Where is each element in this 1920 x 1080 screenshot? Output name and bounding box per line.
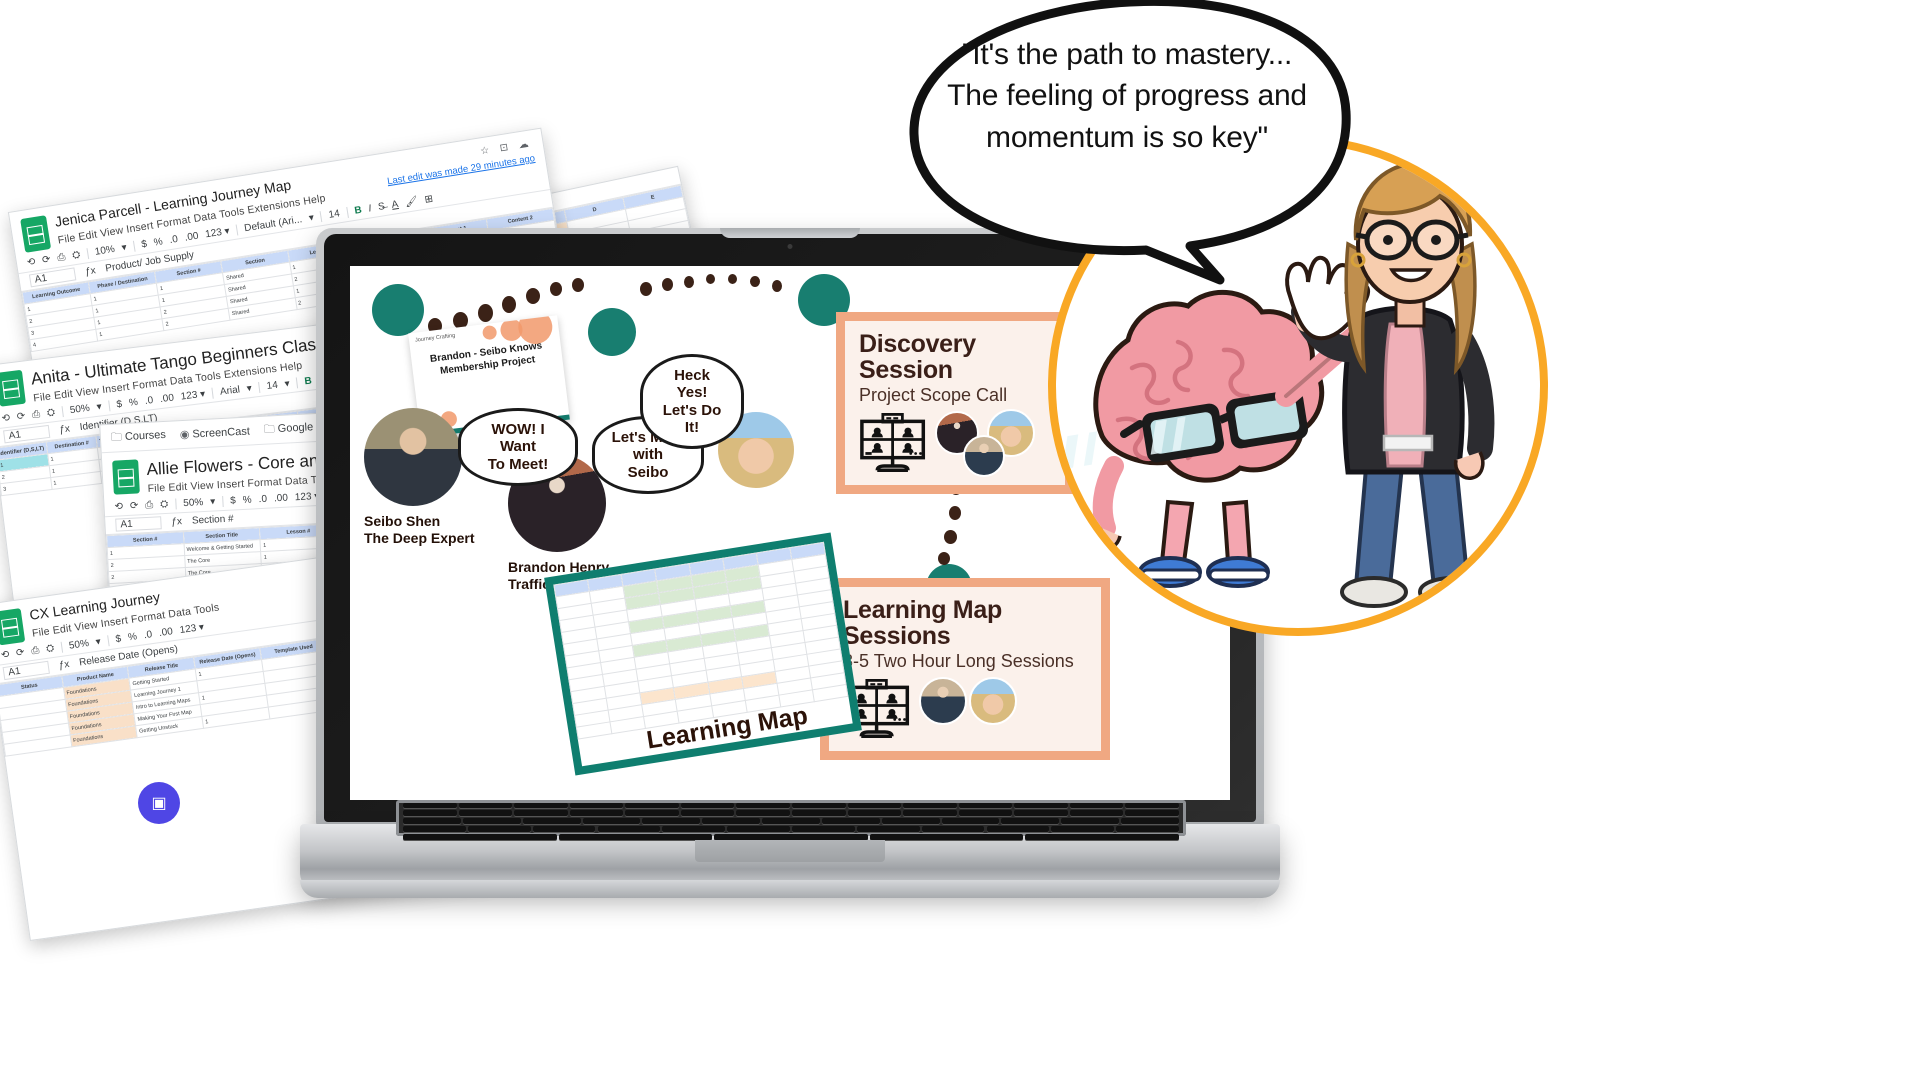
google-sheets-icon (112, 459, 140, 494)
font-size[interactable]: 14 (328, 208, 341, 221)
paint-format-icon[interactable]: ⛭ (46, 407, 55, 419)
redo-icon[interactable]: ⟳ (16, 411, 26, 423)
folder-icon: 🗀 (111, 431, 123, 444)
borders-icon[interactable]: ⊞ (424, 193, 434, 205)
speech-bubble-heck-yes: Heck Yes! Let's Do It! (640, 354, 744, 449)
screenshot-root: ⟲ ⟳ ⎙ ⛭ │ $ % .0 .00 123 ▾ ABCDE Jenica … (0, 0, 1920, 1080)
avatar-seibo (364, 408, 462, 506)
paint-format-icon[interactable]: ⛭ (71, 249, 81, 261)
folder-icon: 🗀 (263, 423, 275, 436)
currency-icon[interactable]: $ (116, 399, 123, 411)
italic-icon[interactable]: I (368, 203, 372, 214)
speech-bubble-wow: WOW! I Want To Meet! (458, 408, 578, 486)
font-size[interactable]: 14 (266, 380, 278, 392)
bubble-line-1: WOW! I Want (477, 421, 559, 456)
card-avatars (919, 677, 1023, 739)
bookmark-label: ScreenCast (192, 426, 250, 441)
laptop-keyboard (396, 800, 1186, 836)
bubble-line-1: Heck Yes! (659, 367, 725, 402)
percent-icon[interactable]: % (153, 236, 164, 248)
avatar-dave (963, 435, 1005, 477)
redo-icon[interactable]: ⟳ (15, 647, 25, 659)
currency-icon[interactable]: $ (230, 496, 236, 507)
font-name[interactable]: Arial (219, 385, 240, 398)
number-format-icon[interactable]: 123 ▾ (205, 226, 231, 241)
bookmark-label: Courses (125, 429, 167, 443)
percent-icon[interactable]: % (243, 495, 252, 506)
bold-icon[interactable]: B (354, 205, 363, 217)
redo-icon[interactable]: ⟳ (41, 254, 51, 266)
bookmark-screencast[interactable]: ◉ScreenCast (179, 425, 250, 442)
chevron-down-icon[interactable]: ▾ (246, 383, 252, 395)
chevron-down-icon[interactable]: ▾ (96, 402, 102, 414)
fx-icon: ƒx (84, 265, 96, 278)
google-sheets-icon (0, 608, 25, 645)
currency-icon[interactable]: $ (141, 239, 148, 251)
formula-value[interactable]: Section # (192, 514, 234, 527)
zoom-value[interactable]: 10% (94, 244, 115, 258)
fx-icon: ƒx (58, 659, 70, 671)
decimal-dec-icon[interactable]: .0 (144, 395, 154, 407)
decimal-dec-icon[interactable]: .0 (258, 494, 267, 505)
decimal-inc-icon[interactable]: .00 (274, 493, 288, 505)
undo-icon[interactable]: ⟲ (114, 501, 123, 512)
chevron-down-icon[interactable]: ▾ (210, 497, 216, 508)
chevron-down-icon[interactable]: ▾ (121, 242, 128, 254)
card-discovery-session[interactable]: Discovery Session Project Scope Call (836, 312, 1074, 494)
google-sheets-icon (20, 215, 51, 253)
avatar-dave (919, 677, 967, 725)
card-body (859, 411, 1051, 473)
record-icon: ◉ (180, 429, 190, 441)
chevron-down-icon[interactable]: ▾ (95, 636, 102, 648)
undo-icon[interactable]: ⟲ (0, 649, 10, 661)
google-sheets-icon (0, 370, 26, 407)
currency-icon[interactable]: $ (115, 633, 122, 645)
decimal-dec-icon[interactable]: .0 (169, 234, 179, 246)
laptop-lid-notch (720, 228, 860, 238)
bubble-line-2: with Seibo (611, 446, 685, 481)
card-title: Discovery Session (859, 331, 1051, 384)
zoom-value[interactable]: 50% (68, 638, 89, 652)
fill-color-icon[interactable]: 🖌 (404, 196, 418, 209)
number-format-icon[interactable]: 123 ▾ (180, 389, 206, 403)
cell-reference[interactable]: A1 (115, 517, 162, 532)
fx-icon: ƒx (59, 424, 71, 436)
card-subtitle: 3-5 Two Hour Long Sessions (843, 652, 1087, 672)
print-icon[interactable]: ⎙ (57, 252, 67, 264)
laptop-trackpad (695, 840, 885, 862)
fx-icon: ƒx (171, 516, 182, 528)
chevron-down-icon[interactable]: ▾ (284, 379, 290, 391)
persona-name-seibo: Seibo Shen (364, 513, 474, 530)
undo-icon[interactable]: ⟲ (26, 256, 36, 268)
card-subtitle: Project Scope Call (859, 386, 1051, 406)
undo-icon[interactable]: ⟲ (1, 413, 11, 425)
video-call-fab-icon[interactable]: ▣ (138, 782, 180, 824)
decimal-inc-icon[interactable]: .00 (159, 393, 174, 406)
persona-role-seibo: The Deep Expert (364, 530, 474, 547)
webcam-icon (788, 244, 793, 249)
decimal-dec-icon[interactable]: .0 (143, 629, 153, 641)
zoom-value[interactable]: 50% (183, 497, 204, 509)
print-icon[interactable]: ⎙ (32, 409, 41, 421)
print-icon[interactable]: ⎙ (145, 500, 154, 511)
bubble-line-2: Let's Do It! (659, 402, 725, 437)
paint-format-icon[interactable]: ⛭ (160, 499, 169, 510)
card-avatars (935, 411, 1051, 473)
text-color-icon[interactable]: A (391, 199, 399, 211)
bubble-line-2: To Meet! (477, 456, 559, 473)
decimal-inc-icon[interactable]: .00 (158, 626, 173, 639)
redo-icon[interactable]: ⟳ (130, 501, 139, 512)
persona-seibo[interactable]: Seibo Shen The Deep Expert (364, 408, 474, 546)
video-call-grid-icon (859, 413, 929, 473)
strikethrough-icon[interactable]: S̶ (377, 201, 385, 213)
avatar-kim (969, 677, 1017, 725)
laptop-front-edge (300, 880, 1280, 898)
percent-icon[interactable]: % (127, 631, 137, 643)
milestone-circle-1[interactable] (372, 284, 424, 336)
testimonial-speech-bubble: "It's the path to mastery... The feeling… (890, 0, 1360, 294)
zoom-value[interactable]: 50% (69, 403, 90, 416)
decimal-inc-icon[interactable]: .00 (184, 231, 199, 244)
chevron-down-icon[interactable]: ▾ (308, 212, 315, 224)
paint-format-icon[interactable]: ⛭ (46, 643, 55, 655)
bookmark-courses[interactable]: 🗀Courses (110, 426, 166, 448)
card-body (843, 677, 1087, 739)
percent-icon[interactable]: % (128, 397, 138, 409)
number-format-icon[interactable]: 123 ▾ (179, 622, 205, 636)
print-icon[interactable]: ⎙ (31, 645, 40, 657)
testimonial-quote: "It's the path to mastery... The feeling… (942, 34, 1312, 158)
milestone-circle-2[interactable] (588, 308, 636, 356)
